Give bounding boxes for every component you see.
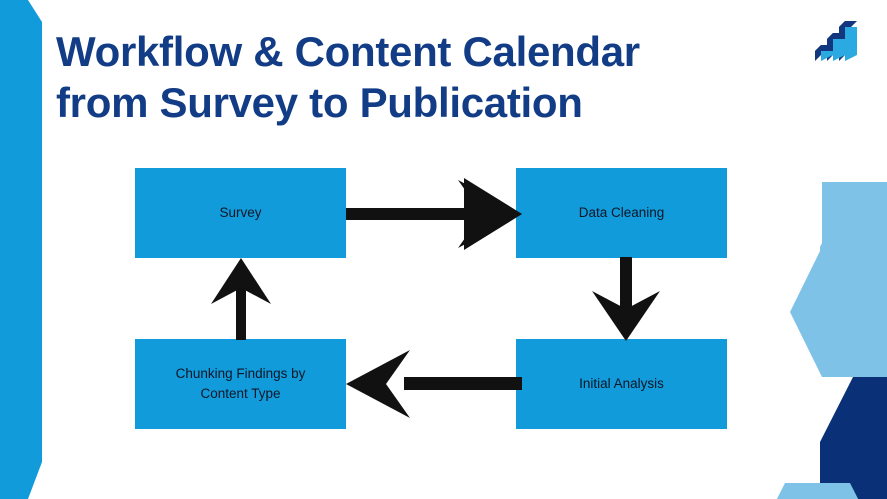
arrow-data-cleaning-to-initial-analysis <box>590 257 662 341</box>
flowchart: Survey Data Cleaning Initial Analysis Ch… <box>0 0 887 499</box>
arrow-chunking-to-survey <box>205 258 277 340</box>
flow-node-data-cleaning[interactable]: Data Cleaning <box>516 168 727 258</box>
flow-node-survey[interactable]: Survey <box>135 168 346 258</box>
slide-canvas: Workflow & Content Calendar from Survey … <box>0 0 887 499</box>
flow-node-initial-analysis[interactable]: Initial Analysis <box>516 339 727 429</box>
arrow-survey-to-data-cleaning <box>346 178 522 250</box>
flow-node-chunking-findings[interactable]: Chunking Findings by Content Type <box>135 339 346 429</box>
arrow-initial-analysis-to-chunking <box>346 348 522 420</box>
